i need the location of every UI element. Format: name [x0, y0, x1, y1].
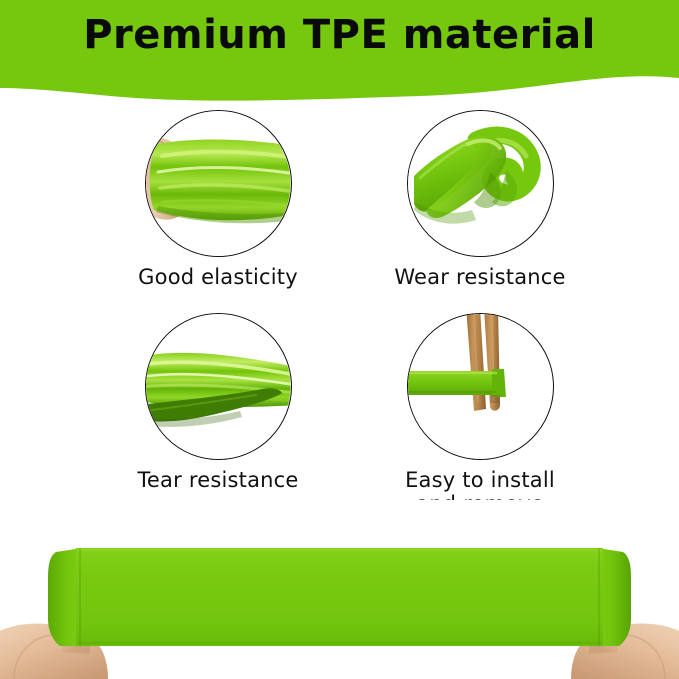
feature-grid: Good elasticity: [0, 108, 679, 528]
band-on-chair-legs-photo: [407, 313, 554, 460]
product-infographic: Premium TPE material: [0, 0, 679, 679]
feature-caption: Wear resistance: [360, 266, 600, 290]
feature-tear-resistance: Tear resistance: [98, 313, 338, 493]
feature-image-frame: [407, 313, 554, 460]
band-main-span: [76, 548, 603, 646]
hero-photo: [0, 500, 679, 679]
stretched-band-photo: [145, 110, 292, 257]
feature-easy-install: Easy to install and remove: [360, 313, 600, 516]
feature-image-frame: [145, 110, 292, 257]
twisted-band-photo: [145, 313, 292, 460]
header-banner: Premium TPE material: [0, 0, 679, 105]
hands-stretching-band-photo: [0, 500, 679, 679]
feature-wear-resistance: Wear resistance: [360, 110, 600, 290]
feature-caption: Good elasticity: [98, 266, 338, 290]
feature-image-frame: [407, 110, 554, 257]
folded-band-photo: [407, 110, 554, 257]
feature-good-elasticity: Good elasticity: [98, 110, 338, 290]
page-title: Premium TPE material: [0, 12, 679, 58]
feature-image-frame: [145, 313, 292, 460]
feature-caption: Tear resistance: [98, 469, 338, 493]
feature-caption-line-1: Easy to install: [405, 468, 555, 492]
